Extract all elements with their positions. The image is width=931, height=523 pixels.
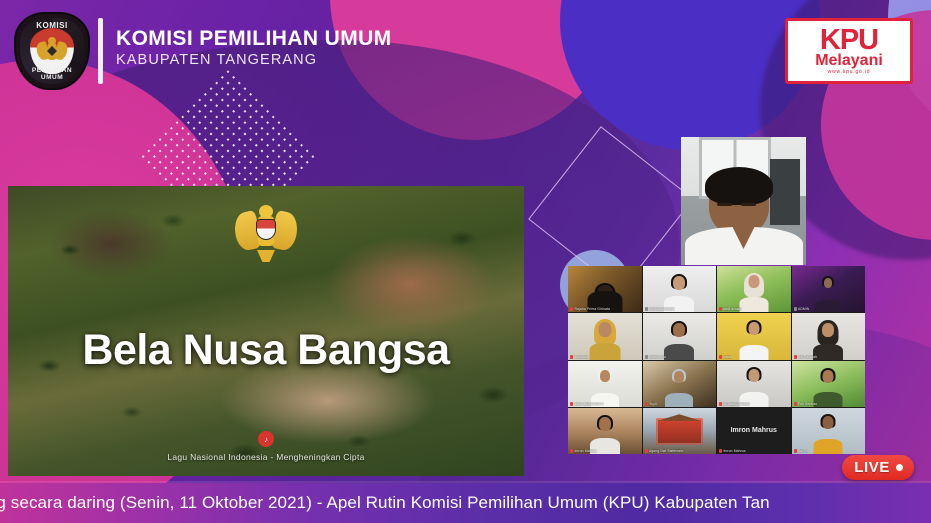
participant-video bbox=[568, 361, 642, 407]
participant-video bbox=[717, 361, 791, 407]
participant-tile[interactable]: Ita TR bbox=[792, 408, 866, 454]
participant-display-name: Imron Mahrus bbox=[717, 408, 791, 454]
participant-body bbox=[814, 439, 843, 454]
mic-muted-icon bbox=[794, 449, 797, 453]
mic-muted-icon bbox=[794, 307, 797, 311]
participant-head bbox=[823, 416, 834, 429]
participant-name-label: ARIF NURCAHYO bbox=[570, 402, 604, 406]
participant-body bbox=[739, 297, 768, 312]
participant-body bbox=[664, 344, 694, 360]
mic-muted-icon bbox=[719, 449, 722, 453]
slide-caption: Lagu Nasional Indonesia - Mengheningkan … bbox=[8, 452, 524, 462]
kpu-building-photo bbox=[656, 418, 703, 445]
participant-name-label: Wahyu Dvi bbox=[645, 355, 667, 359]
participant-body bbox=[813, 344, 843, 360]
slide-title: Bela Nusa Bangsa bbox=[8, 326, 524, 375]
participant-head bbox=[598, 322, 611, 337]
mic-muted-icon bbox=[570, 402, 573, 406]
participant-tile[interactable]: Firli Septian bbox=[792, 361, 866, 407]
participant-video bbox=[792, 313, 866, 359]
header-title: KOMISI PEMILIHAN UMUM bbox=[116, 28, 392, 50]
ticker-text: erang secara daring (Senin, 11 Oktober 2… bbox=[0, 493, 770, 513]
shared-screen-slide[interactable]: Bela Nusa Bangsa ♪ Lagu Nasional Indones… bbox=[8, 186, 524, 476]
participant-video bbox=[643, 361, 717, 407]
mic-muted-icon bbox=[645, 355, 648, 359]
music-note-icon: ♪ bbox=[258, 431, 274, 447]
participant-head bbox=[823, 370, 834, 383]
header-subtitle: KABUPATEN TANGERANG bbox=[116, 52, 392, 68]
participant-body bbox=[815, 300, 841, 312]
participant-name-label: Agung Dwi Saiferrain bbox=[645, 449, 683, 453]
news-ticker: erang secara daring (Senin, 11 Oktober 2… bbox=[0, 483, 931, 523]
participant-video bbox=[717, 313, 791, 359]
participant-name-label: M Taufik Hidayat bbox=[719, 402, 750, 406]
participant-head bbox=[600, 370, 610, 382]
participant-tile[interactable]: dendi bbox=[717, 313, 791, 359]
melayani-url: www.kpu.go.id bbox=[828, 69, 871, 75]
participant-body bbox=[665, 393, 693, 407]
participant-head bbox=[748, 322, 759, 335]
participant-name-label: Ita TR bbox=[794, 449, 808, 453]
mic-muted-icon bbox=[719, 355, 722, 359]
participant-tile[interactable]: sulaiman bbox=[568, 313, 642, 359]
participant-name-label: Melliana Adistya bbox=[645, 307, 676, 311]
mic-muted-icon bbox=[645, 307, 648, 311]
participant-video bbox=[568, 266, 642, 312]
header-divider bbox=[98, 18, 103, 84]
broadcast-stage: KOMISI PEMILIHAN UMUM KOMISI PEMILIHAN U… bbox=[0, 0, 931, 523]
speaker-dark-panel bbox=[770, 159, 800, 225]
participant-video bbox=[717, 266, 791, 312]
mic-muted-icon bbox=[719, 402, 722, 406]
participant-tile[interactable]: M Taufik Hidayat bbox=[717, 361, 791, 407]
mic-muted-icon bbox=[570, 355, 573, 359]
participant-name-label: ADMIN bbox=[794, 307, 810, 311]
participant-tile[interactable]: Yuyli bbox=[643, 361, 717, 407]
mic-muted-icon bbox=[570, 449, 573, 453]
participant-tile[interactable]: Imron Mahrus bbox=[568, 408, 642, 454]
main-speaker-video[interactable] bbox=[681, 137, 806, 265]
participant-name-label: sulaiman bbox=[570, 355, 589, 359]
participant-name-label: Imron Mahrus bbox=[719, 449, 746, 453]
participant-name-label: dendi bbox=[719, 355, 732, 359]
participant-video bbox=[568, 408, 642, 454]
participant-body bbox=[589, 343, 620, 360]
participant-head bbox=[673, 323, 685, 337]
participant-name-label: Imron Mahrus bbox=[570, 449, 597, 453]
kpu-melayani-logo: KPU Melayani www.kpu.go.id bbox=[785, 18, 913, 84]
participant-tile[interactable]: Imron MahrusImron Mahrus bbox=[717, 408, 791, 454]
participant-head bbox=[822, 323, 834, 337]
mic-muted-icon bbox=[570, 307, 573, 311]
live-dot-icon bbox=[896, 464, 903, 471]
garuda-pancasila-icon bbox=[234, 204, 298, 262]
participant-tile[interactable]: Wahyu Dvi bbox=[643, 313, 717, 359]
mic-muted-icon bbox=[794, 402, 797, 406]
kpu-emblem-icon: KOMISI PEMILIHAN UMUM bbox=[14, 12, 90, 90]
participant-tile[interactable]: dedi armadi bbox=[717, 266, 791, 312]
garuda-icon bbox=[37, 37, 67, 67]
melayani-label: Melayani bbox=[815, 53, 883, 68]
participant-head bbox=[599, 417, 611, 431]
participant-grid[interactable]: Rajaha Prima GirinataMelliana Adistyaded… bbox=[568, 266, 865, 454]
participant-head bbox=[674, 371, 684, 383]
participant-name-label: Firli Septian bbox=[794, 402, 818, 406]
participant-head bbox=[748, 369, 759, 382]
participant-name-label: Siti Fatimah bbox=[794, 355, 818, 359]
mic-muted-icon bbox=[645, 449, 648, 453]
mic-muted-icon bbox=[794, 355, 797, 359]
live-label: LIVE bbox=[854, 459, 890, 476]
melayani-kpu-label: KPU bbox=[820, 27, 878, 54]
participant-tile[interactable]: Agung Dwi Saiferrain bbox=[643, 408, 717, 454]
participant-tile[interactable]: Siti Fatimah bbox=[792, 313, 866, 359]
participant-video bbox=[568, 313, 642, 359]
participant-tile[interactable]: Melliana Adistya bbox=[643, 266, 717, 312]
participant-video bbox=[643, 266, 717, 312]
mic-muted-icon bbox=[719, 307, 722, 311]
participant-video bbox=[643, 313, 717, 359]
participant-tile[interactable]: Rajaha Prima Girinata bbox=[568, 266, 642, 312]
participant-head bbox=[748, 275, 759, 288]
participant-name-label: Rajaha Prima Girinata bbox=[570, 307, 610, 311]
participant-video bbox=[792, 408, 866, 454]
participant-head bbox=[824, 278, 832, 288]
live-badge: LIVE bbox=[842, 455, 914, 480]
participant-name-label: Yuyli bbox=[645, 402, 657, 406]
header-text-block: KOMISI PEMILIHAN UMUM KABUPATEN TANGERAN… bbox=[116, 28, 392, 68]
participant-video bbox=[643, 408, 717, 454]
participant-video bbox=[792, 361, 866, 407]
participant-tile[interactable]: ARIF NURCAHYO bbox=[568, 361, 642, 407]
emblem-ring-bottom-label: PEMILIHAN UMUM bbox=[20, 67, 84, 81]
participant-body bbox=[814, 392, 843, 407]
mic-muted-icon bbox=[645, 402, 648, 406]
participant-name-label: dedi armadi bbox=[719, 307, 742, 311]
participant-tile[interactable]: ADMIN bbox=[792, 266, 866, 312]
participant-head bbox=[673, 276, 685, 290]
participant-body bbox=[739, 345, 768, 360]
participant-video bbox=[792, 266, 866, 312]
